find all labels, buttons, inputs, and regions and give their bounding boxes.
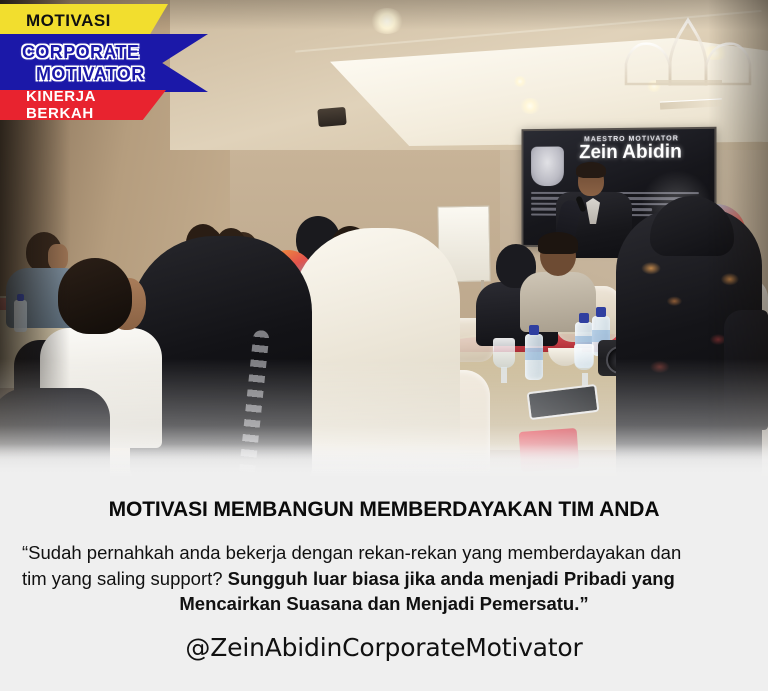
logo-band-motivasi: MOTIVASI bbox=[0, 4, 168, 38]
foreground-attendee-cream-hijab bbox=[292, 228, 460, 478]
water-bottle bbox=[14, 300, 27, 332]
headline: MOTIVASI MEMBANGUN MEMBERDAYAKAN TIM AND… bbox=[0, 498, 768, 522]
foreground-attendee-left bbox=[0, 388, 110, 478]
drinking-glass bbox=[493, 338, 515, 368]
quote-line-3-bold: Mencairkan Suasana dan Menjadi Pemersatu… bbox=[179, 593, 588, 614]
drinking-glass bbox=[574, 344, 594, 370]
caption-block: MOTIVASI MEMBANGUN MEMBERDAYAKAN TIM AND… bbox=[0, 478, 768, 691]
ceiling-downlight-icon bbox=[370, 8, 404, 34]
quote-line-2-bold: Sungguh luar biasa jika anda menjadi Pri… bbox=[228, 568, 675, 589]
quote-line-1: “Sudah pernahkah anda bekerja dengan rek… bbox=[12, 540, 756, 566]
foreground-attendee-head bbox=[58, 258, 132, 334]
brand-logo: MOTIVASI CORPORATE MOTIVATOR KINERJA BER… bbox=[0, 4, 232, 120]
logo-text-motivasi: MOTIVASI bbox=[26, 11, 111, 31]
quote-line-3: Mencairkan Suasana dan Menjadi Pemersatu… bbox=[12, 591, 756, 617]
water-bottle bbox=[525, 334, 543, 380]
poster-root: MAESTRO MOTIVATOR Zein Abidin bbox=[0, 0, 768, 691]
quote-line-2-plain: tim yang saling support? bbox=[22, 568, 228, 589]
logo-band-corporate-motivator: CORPORATE MOTIVATOR bbox=[0, 34, 208, 92]
logo-text-corporate: CORPORATE bbox=[22, 43, 139, 61]
speaker-hair bbox=[576, 162, 606, 178]
quote-text: “Sudah pernahkah anda bekerja dengan rek… bbox=[12, 540, 756, 617]
logo-text-motivator: MOTIVATOR bbox=[36, 65, 145, 83]
ceiling-downlight-icon bbox=[519, 98, 541, 114]
screen-speaker-name: Zein Abidin bbox=[556, 142, 706, 163]
logo-text-kinerja-berkah: KINERJA BERKAH bbox=[26, 88, 166, 122]
logo-band-kinerja-berkah: KINERJA BERKAH bbox=[0, 90, 166, 120]
audience-member-hair bbox=[538, 232, 578, 254]
screen-logo-icon bbox=[531, 146, 564, 186]
social-handle: @ZeinAbidinCorporateMotivator bbox=[0, 633, 768, 662]
wall-arch-motif-icon bbox=[612, 14, 764, 92]
foreground-attendee-right-arm bbox=[724, 310, 768, 430]
projector bbox=[317, 107, 346, 127]
ceiling-downlight-icon bbox=[513, 76, 527, 87]
audience-member-face bbox=[48, 244, 68, 270]
red-bag bbox=[519, 428, 580, 472]
quote-line-2: tim yang saling support? Sungguh luar bi… bbox=[12, 566, 756, 592]
